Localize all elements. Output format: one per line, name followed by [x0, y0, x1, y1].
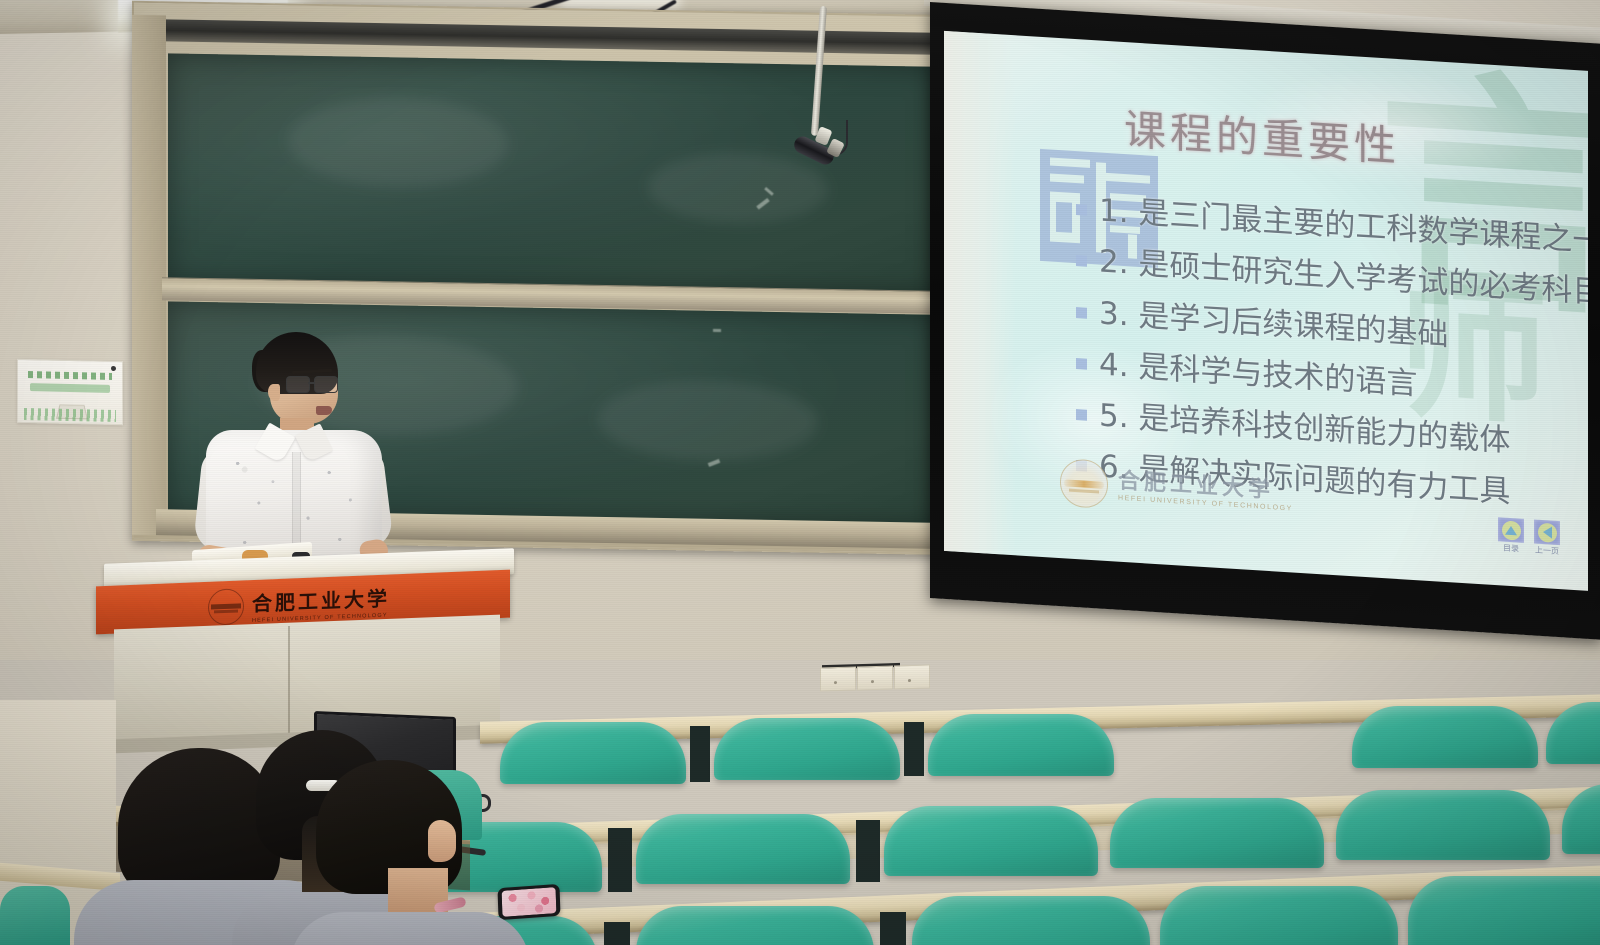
- slide-navigation-buttons[interactable]: 目录 上一页: [1498, 517, 1560, 557]
- poster-grass-decor: [24, 408, 116, 422]
- contents-button[interactable]: 目录: [1498, 517, 1524, 555]
- student-seat[interactable]: [1160, 886, 1398, 945]
- bullet-text: 3. 是学习后续课程的基础: [1099, 293, 1448, 355]
- student-seat[interactable]: [1336, 790, 1550, 860]
- bullet-square-icon: [1076, 358, 1087, 370]
- poster-title-line: [28, 371, 112, 380]
- bullet-square-icon: [1076, 307, 1087, 319]
- seat-divider: [904, 722, 924, 776]
- university-seal-icon: [1060, 458, 1108, 509]
- bullet-square-icon: [1076, 409, 1087, 421]
- previous-page-button[interactable]: 上一页: [1534, 519, 1560, 557]
- student-seat[interactable]: [928, 714, 1114, 776]
- seat-divider: [608, 828, 632, 892]
- classroom-photo: 言 师 课程的重要性: [0, 0, 1600, 945]
- phone-case-pattern: [502, 887, 557, 917]
- poster-banner: [30, 383, 110, 393]
- triangle-up-icon: [1505, 525, 1517, 535]
- blackboard-left-frame: [132, 15, 166, 536]
- student-seat[interactable]: [636, 906, 874, 945]
- podium-seal-icon: [208, 588, 244, 625]
- previous-page-button-label: 上一页: [1534, 544, 1560, 557]
- bullet-text: 4. 是科学与技术的语言: [1099, 344, 1417, 404]
- front-seat-partial[interactable]: [0, 886, 70, 945]
- contents-button-label: 目录: [1498, 542, 1524, 555]
- seat-divider: [604, 922, 630, 945]
- glasses-icon: [286, 376, 340, 392]
- student-seat[interactable]: [1110, 798, 1324, 868]
- student-seat[interactable]: [912, 896, 1150, 945]
- seat-divider: [880, 912, 906, 945]
- seat-divider: [690, 726, 710, 782]
- student-seat[interactable]: [884, 806, 1098, 876]
- student-seat[interactable]: [636, 814, 850, 884]
- student-front-right: [316, 760, 496, 945]
- student-ear: [428, 820, 456, 862]
- mobile-phone[interactable]: [497, 884, 560, 920]
- wall-poster: [17, 359, 123, 425]
- student-shoulders: [290, 912, 530, 945]
- student-seat[interactable]: [500, 722, 686, 784]
- projection-screen: 言 师 课程的重要性: [930, 2, 1600, 640]
- seat-divider: [856, 820, 880, 882]
- podium-university-name-cn: 合肥工业大学: [252, 582, 390, 617]
- bullet-square-icon: [1076, 255, 1087, 267]
- bullet-square-icon: [1076, 204, 1087, 216]
- student-seat[interactable]: [714, 718, 900, 780]
- student-seat[interactable]: [1352, 706, 1538, 768]
- poster-pin: [111, 366, 116, 371]
- student-seat[interactable]: [1408, 876, 1600, 945]
- triangle-left-icon: [1543, 526, 1552, 539]
- lecturer-mouth: [316, 406, 332, 415]
- lecturer-ear: [268, 384, 280, 401]
- projected-slide: 言 师 课程的重要性: [944, 31, 1588, 591]
